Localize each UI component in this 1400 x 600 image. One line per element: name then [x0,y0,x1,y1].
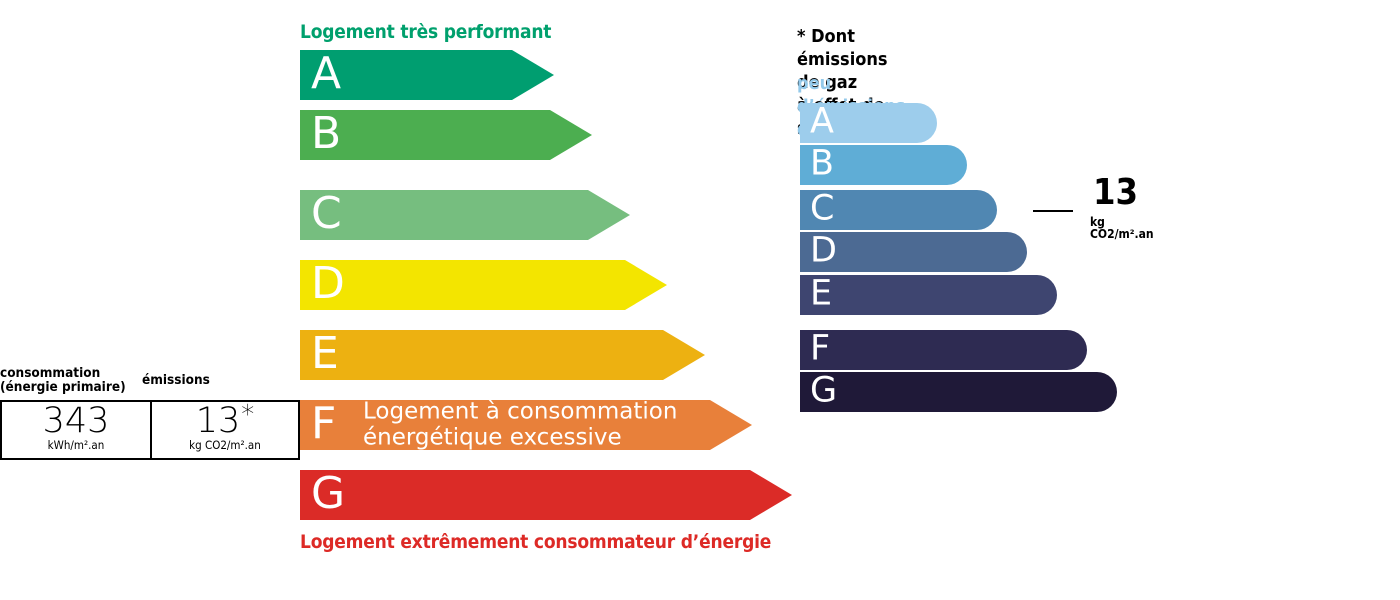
ges-section: * Dont émissions de gaz à effet de serre… [0,0,610,600]
ges-band-d-letter: D [810,233,837,268]
ges-band-e-letter: E [810,276,832,311]
ges-rating-value: 13 [1093,175,1138,211]
ges-band-e[interactable]: E [800,275,1057,315]
ges-rating-unit: kg CO2/m².an [1090,216,1154,240]
ges-band-f-letter: F [810,331,830,366]
ges-band-c[interactable]: C [800,190,997,230]
ges-band-b-letter: B [810,146,834,181]
ges-band-a[interactable]: A [800,103,937,143]
ges-band-c-letter: C [810,191,834,226]
ges-band-b[interactable]: B [800,145,967,185]
ges-leader-line [1033,210,1073,212]
dpe-label: Logement très performant A B C D E F [0,0,1400,600]
ges-band-f[interactable]: F [800,330,1087,370]
ges-band-a-letter: A [810,104,834,139]
ges-band-g[interactable]: G [800,372,1117,412]
ges-band-g-letter: G [810,373,837,408]
ges-band-d[interactable]: D [800,232,1027,272]
